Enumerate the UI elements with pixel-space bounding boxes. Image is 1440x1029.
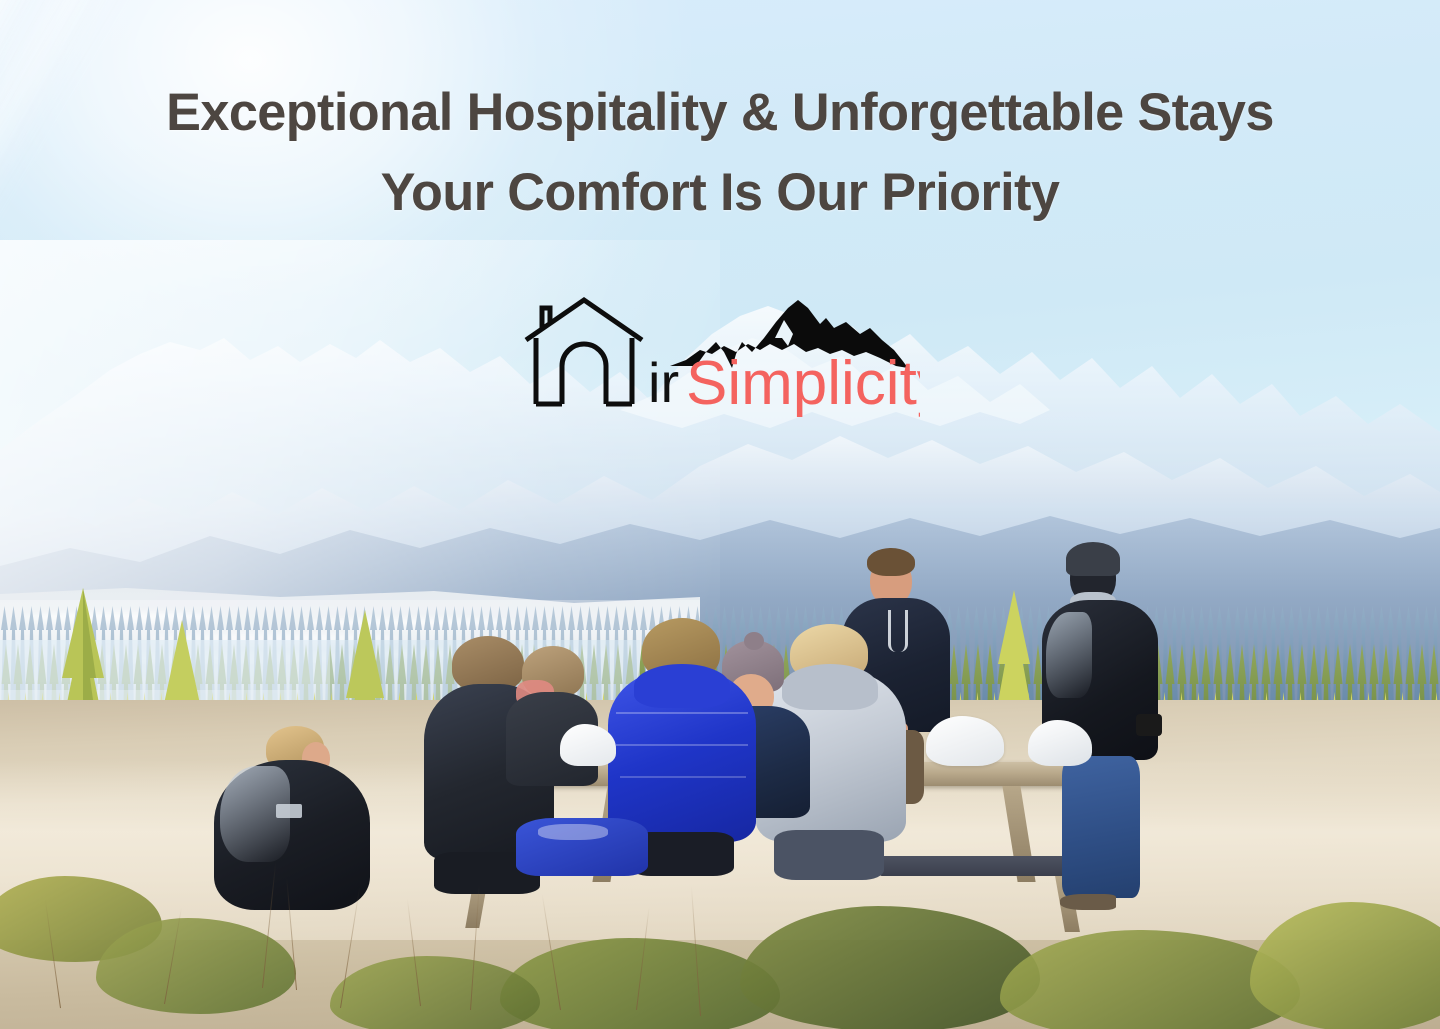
shoe	[1060, 894, 1116, 910]
house-outline-icon	[526, 300, 642, 404]
beanie-icon	[1066, 542, 1120, 576]
hair	[867, 548, 915, 576]
puffer-seam-3	[620, 776, 746, 778]
logo-text-accent: Simplicity	[686, 349, 920, 418]
camera-icon	[1136, 714, 1162, 736]
puffer-seam-2	[616, 744, 748, 746]
duffel-highlight	[538, 824, 608, 840]
person-seated-on-ground	[214, 726, 370, 916]
brand-logo[interactable]: ir Simplicity AirSimplicity	[520, 294, 920, 422]
puffer-seam-1	[616, 712, 748, 714]
legs	[774, 830, 884, 880]
shoulder-highlight	[1046, 612, 1092, 698]
jeans	[1062, 756, 1140, 898]
hood	[634, 664, 730, 708]
logo-text-dark: ir	[648, 351, 679, 414]
hero-banner: Exceptional Hospitality & Unforgettable …	[0, 0, 1440, 1029]
brand-logo-icon	[276, 804, 302, 818]
